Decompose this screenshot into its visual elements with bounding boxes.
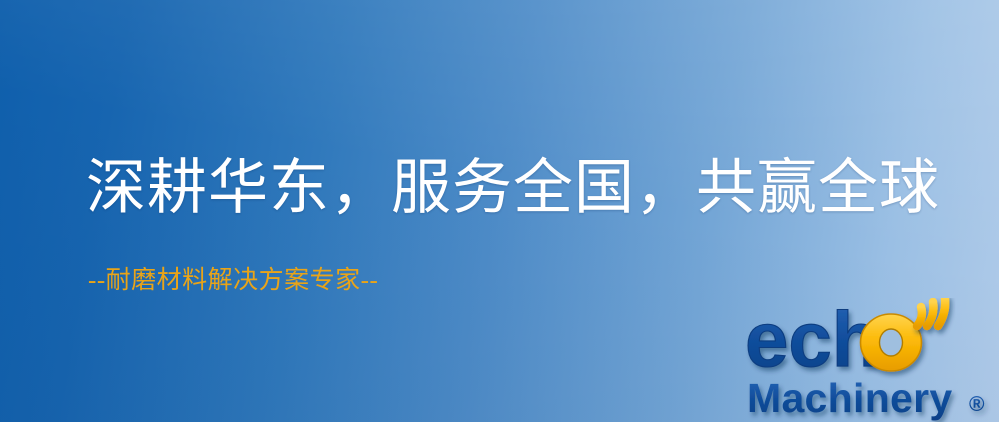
logo-subtext-group: Machinery ®	[747, 375, 985, 421]
logo-ech-text: ech	[745, 298, 879, 383]
logo-machinery-text: Machinery	[747, 375, 953, 421]
logo-artwork: ech Machinery ®	[745, 298, 997, 422]
logo-o-counter	[880, 329, 903, 356]
banner-subheadline: --耐磨材料解决方案专家--	[88, 266, 378, 296]
signal-waves-icon	[917, 298, 945, 326]
signal-arc-2	[927, 302, 933, 326]
signal-arc-3	[938, 298, 945, 326]
banner-headline: 深耕华东，服务全国，共赢全球	[86, 152, 940, 224]
echo-machinery-logo[interactable]: ech Machinery ®	[745, 298, 997, 422]
registered-trademark-icon: ®	[969, 393, 985, 416]
logo-wordmark-ech: ech	[745, 298, 879, 383]
promo-banner: 深耕华东，服务全国，共赢全球 --耐磨材料解决方案专家--	[0, 0, 999, 422]
logo-letter-o-gold	[861, 314, 922, 371]
signal-arc-1	[917, 307, 922, 326]
